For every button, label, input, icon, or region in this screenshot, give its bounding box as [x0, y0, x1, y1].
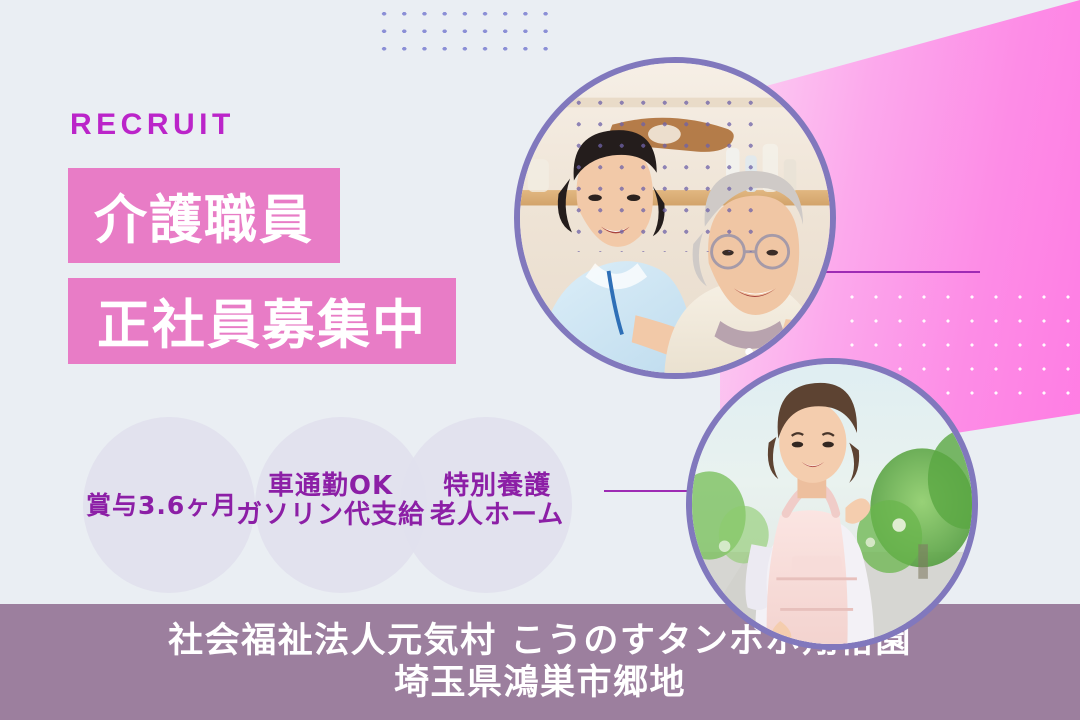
feature-label-facility-type: 特別養護 老人ホーム	[430, 472, 564, 530]
feature-label-car-commute-line2: ガソリン代支給	[236, 501, 425, 530]
feature-label-bonus: 賞与3.6ヶ月	[86, 492, 237, 520]
photo-caregiver-outdoors-image	[692, 364, 972, 644]
feature-label-bonus-line1: 賞与3.6ヶ月	[86, 492, 237, 520]
feature-label-car-commute: 車通勤OK ガソリン代支給	[236, 472, 425, 530]
job-title-badge: 介護職員	[68, 168, 340, 263]
footer-location: 埼玉県鴻巣市郷地	[394, 663, 686, 703]
recruitment-banner: RECRUIT 介護職員 正社員募集中 賞与3.6ヶ月 車通勤OK ガソリン代支…	[0, 0, 1080, 720]
eyebrow-recruit: RECRUIT	[70, 108, 235, 142]
feature-label-facility-type-line2: 老人ホーム	[430, 501, 564, 530]
photo-caregiver-outdoors	[686, 358, 978, 650]
feature-label-facility-type-line1: 特別養護	[430, 472, 564, 501]
rule-right-divider	[812, 271, 980, 273]
dot-grid-top-icon	[374, 5, 556, 63]
employment-type-badge: 正社員募集中	[68, 278, 456, 364]
feature-label-car-commute-line1: 車通勤OK	[236, 472, 425, 501]
dot-grid-photo-icon	[568, 92, 758, 252]
